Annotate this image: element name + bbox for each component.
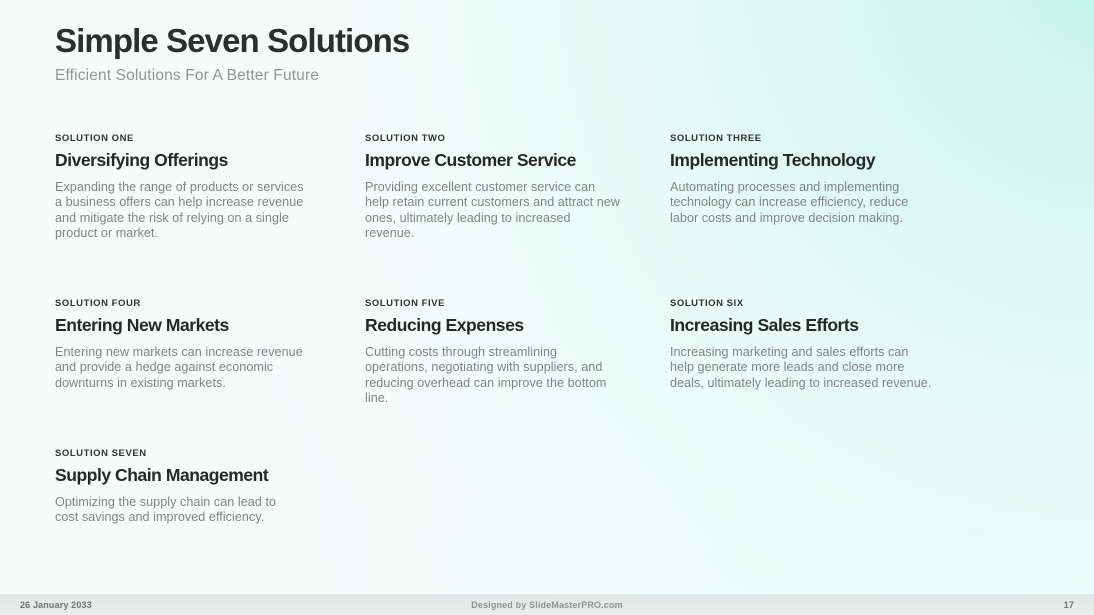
solutions-grid: SOLUTION ONE Diversifying Offerings Expa…: [55, 133, 1045, 548]
solution-title: Diversifying Offerings: [55, 149, 365, 171]
solution-card-five: SOLUTION FIVE Reducing Expenses Cutting …: [365, 298, 670, 448]
page-subtitle: Efficient Solutions For A Better Future: [55, 66, 409, 86]
solutions-row-3: SOLUTION SEVEN Supply Chain Management O…: [55, 448, 1045, 548]
solution-title: Improve Customer Service: [365, 149, 670, 171]
footer-inner: 26 January 2033 Designed by SlideMasterP…: [0, 595, 1094, 615]
footer-date: 26 January 2033: [20, 600, 92, 610]
solution-description: Cutting costs through streamlining opera…: [365, 345, 620, 406]
solution-description: Entering new markets can increase revenu…: [55, 345, 323, 391]
solution-title: Supply Chain Management: [55, 464, 365, 486]
solution-eyebrow: SOLUTION SIX: [670, 298, 980, 310]
solution-eyebrow: SOLUTION TWO: [365, 133, 670, 145]
solution-card-four: SOLUTION FOUR Entering New Markets Enter…: [55, 298, 365, 448]
solutions-row-1: SOLUTION ONE Diversifying Offerings Expa…: [55, 133, 1045, 298]
solution-eyebrow: SOLUTION ONE: [55, 133, 365, 145]
solution-card-two: SOLUTION TWO Improve Customer Service Pr…: [365, 133, 670, 298]
solution-card-three: SOLUTION THREE Implementing Technology A…: [670, 133, 980, 298]
solution-card-seven: SOLUTION SEVEN Supply Chain Management O…: [55, 448, 365, 548]
grid-spacer: [675, 448, 985, 548]
solution-description: Increasing marketing and sales efforts c…: [670, 345, 932, 391]
solution-eyebrow: SOLUTION SEVEN: [55, 448, 365, 460]
solution-title: Increasing Sales Efforts: [670, 314, 980, 336]
solution-description: Automating processes and implementing te…: [670, 180, 932, 226]
solutions-row-2: SOLUTION FOUR Entering New Markets Enter…: [55, 298, 1045, 448]
footer-credit: Designed by SlideMasterPRO.com: [471, 600, 623, 610]
solution-description: Optimizing the supply chain can lead to …: [55, 495, 295, 526]
solution-eyebrow: SOLUTION FIVE: [365, 298, 670, 310]
slide-footer: 26 January 2033 Designed by SlideMasterP…: [0, 594, 1094, 615]
solution-title: Entering New Markets: [55, 314, 365, 336]
solution-title: Implementing Technology: [670, 149, 980, 171]
solution-description: Providing excellent customer service can…: [365, 180, 620, 241]
footer-page-number: 17: [1064, 600, 1074, 610]
solution-card-six: SOLUTION SIX Increasing Sales Efforts In…: [670, 298, 980, 448]
grid-spacer: [365, 448, 675, 548]
solution-eyebrow: SOLUTION THREE: [670, 133, 980, 145]
solution-eyebrow: SOLUTION FOUR: [55, 298, 365, 310]
solution-title: Reducing Expenses: [365, 314, 670, 336]
slide-header: Simple Seven Solutions Efficient Solutio…: [55, 20, 409, 86]
page-title: Simple Seven Solutions: [55, 20, 409, 62]
solution-description: Expanding the range of products or servi…: [55, 180, 307, 241]
solution-card-one: SOLUTION ONE Diversifying Offerings Expa…: [55, 133, 365, 298]
slide-canvas: Simple Seven Solutions Efficient Solutio…: [0, 0, 1094, 615]
